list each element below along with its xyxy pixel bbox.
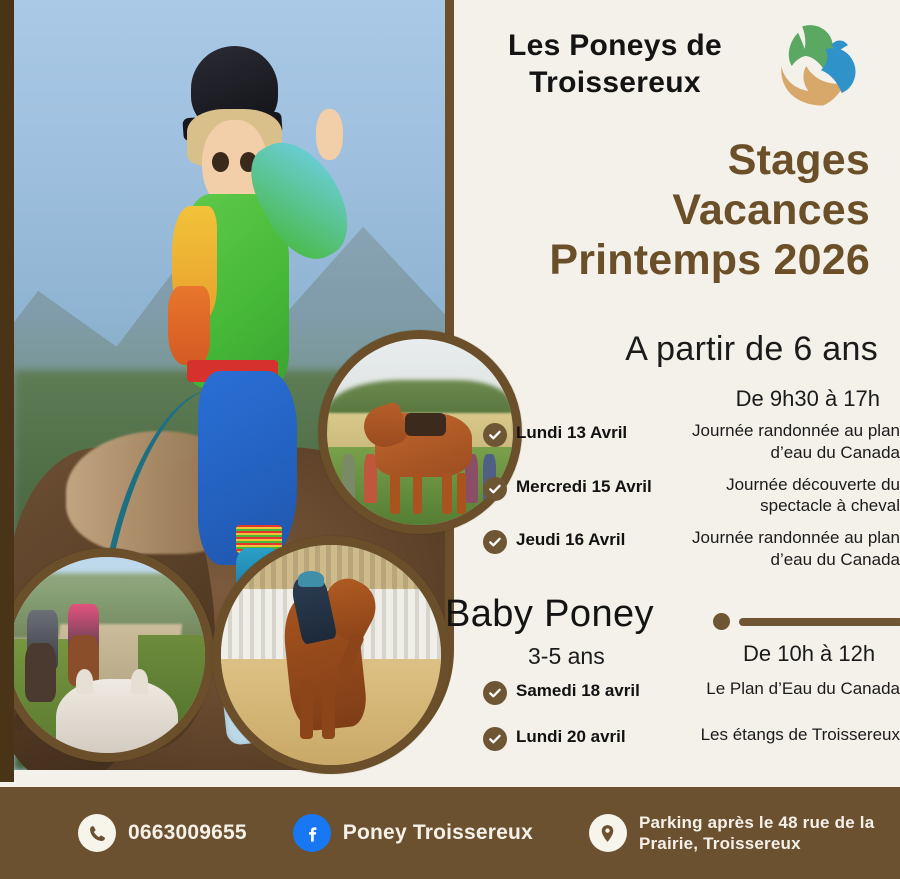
phone-number: 0663009655 xyxy=(128,821,247,845)
divider-dot xyxy=(713,613,730,630)
session-date: Jeudi 16 Avril xyxy=(516,527,668,550)
section-divider xyxy=(713,613,900,630)
headline-line-2: Vacances xyxy=(458,186,870,236)
check-icon xyxy=(483,681,507,705)
arena-rider-helmet xyxy=(298,571,324,586)
session-date: Mercredi 15 Avril xyxy=(516,474,668,497)
field-person xyxy=(342,454,355,502)
rearing-horse-hindleg xyxy=(322,681,335,738)
session-date: Lundi 20 avril xyxy=(516,724,666,747)
trail-white-horse-ear xyxy=(76,669,94,694)
trail-white-horse-head xyxy=(56,679,178,762)
baby-program-age: 3-5 ans xyxy=(528,643,605,670)
phone-icon xyxy=(78,814,116,852)
left-frame-border xyxy=(0,0,14,782)
check-icon xyxy=(483,423,507,447)
session-row: Lundi 20 avril Les étangs de Troissereux xyxy=(483,724,900,751)
baby-program-hours: De 10h à 12h xyxy=(743,641,875,667)
program-hours: De 9h30 à 17h xyxy=(460,386,880,412)
circle-photo-trail-ride xyxy=(0,548,214,762)
baby-program-title: Baby Poney xyxy=(445,593,654,636)
trail-horse-dark xyxy=(25,643,56,702)
location-pin-icon xyxy=(589,814,627,852)
main-session-list: Lundi 13 Avril Journée randonnée au plan… xyxy=(483,420,900,581)
session-description: Journée randonnée au plan d’eau du Canad… xyxy=(668,527,900,571)
brand-name: Les Poneys de Troissereux xyxy=(465,28,765,101)
address-contact[interactable]: Parking après le 48 rue de la Prairie, T… xyxy=(589,812,874,855)
phone-contact[interactable]: 0663009655 xyxy=(78,814,247,852)
three-horse-heads-logo xyxy=(771,14,875,118)
field-horse-saddle xyxy=(405,413,446,435)
session-row: Samedi 18 avril Le Plan d’Eau du Canada xyxy=(483,678,900,705)
divider-bar xyxy=(739,618,900,626)
session-description: Journée découverte du spectacle à cheval xyxy=(668,474,900,518)
content-column: Les Poneys de Troissereux Stages Vacance… xyxy=(455,0,900,782)
child-hand xyxy=(316,109,343,160)
check-icon xyxy=(483,727,507,751)
session-row: Jeudi 16 Avril Journée randonnée au plan… xyxy=(483,527,900,571)
session-description: Le Plan d’Eau du Canada xyxy=(666,678,900,700)
page-title: Stages Vacances Printemps 2026 xyxy=(458,136,870,286)
session-date: Lundi 13 Avril xyxy=(516,420,668,443)
check-icon xyxy=(483,477,507,501)
facebook-page-name: Poney Troissereux xyxy=(343,821,533,845)
headline-line-3: Printemps 2026 xyxy=(458,236,870,286)
field-horse-leg xyxy=(413,473,422,514)
field-horse-leg xyxy=(390,473,399,514)
address-line-2: Prairie, Troissereux xyxy=(639,834,801,853)
age-requirement: A partir de 6 ans xyxy=(458,330,878,369)
brand-row: Les Poneys de Troissereux xyxy=(465,28,895,118)
headline-line-1: Stages xyxy=(458,136,870,186)
contact-footer: 0663009655 Poney Troissereux Parking apr… xyxy=(0,787,900,879)
address-line-1: Parking après le 48 rue de la xyxy=(639,813,874,832)
session-date: Samedi 18 avril xyxy=(516,678,666,701)
session-row: Lundi 13 Avril Journée randonnée au plan… xyxy=(483,420,900,464)
session-description: Journée randonnée au plan d’eau du Canad… xyxy=(668,420,900,464)
facebook-icon xyxy=(293,814,331,852)
circle-photo-rearing-horse xyxy=(212,536,450,774)
child-rider xyxy=(161,46,351,616)
child-eye-left xyxy=(212,152,229,172)
rearing-horse-hindleg xyxy=(300,681,313,738)
trail-white-horse-ear xyxy=(131,669,149,694)
poster: Les Poneys de Troissereux Stages Vacance… xyxy=(0,0,900,879)
child-jacket-orange-panel xyxy=(168,286,210,366)
check-icon xyxy=(483,530,507,554)
address-text: Parking après le 48 rue de la Prairie, T… xyxy=(639,812,874,855)
baby-session-list: Samedi 18 avril Le Plan d’Eau du Canada … xyxy=(483,678,900,770)
session-row: Mercredi 15 Avril Journée découverte du … xyxy=(483,474,900,518)
field-horse-leg xyxy=(442,473,451,514)
session-description: Les étangs de Troissereux xyxy=(666,724,900,746)
facebook-contact[interactable]: Poney Troissereux xyxy=(293,814,533,852)
